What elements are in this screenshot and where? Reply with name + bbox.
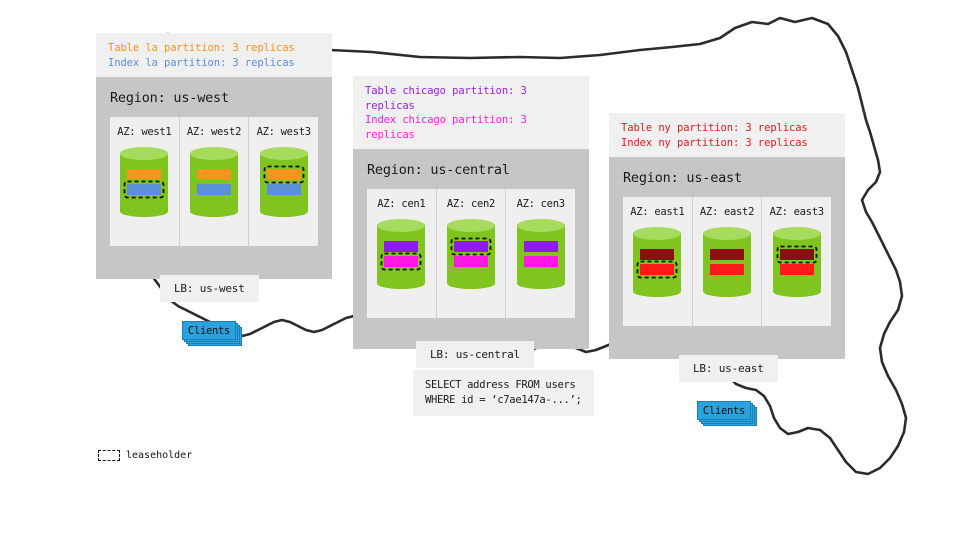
node-cylinder-cen3[interactable] [517,219,565,304]
clients-us-west[interactable]: Clients [182,321,242,345]
az-label-cen3: AZ: cen3 [517,198,565,210]
node-cylinder-west2[interactable] [190,147,238,232]
index-replica-bar [454,256,488,267]
node-cylinder-east1[interactable] [633,227,681,312]
table-replica-bar [384,241,418,252]
az-cell-cen1[interactable]: AZ: cen1 [367,189,436,318]
region-us-west-header: Table la partition: 3 replicas Index la … [96,33,332,77]
node-cylinder-west3[interactable] [260,147,308,232]
region-us-west-body: Region: us-west AZ: west1 AZ: west2 AZ: … [96,77,332,279]
index-partition-label: Index chicago partition: 3 replicas [365,113,577,142]
az-strip-central: AZ: cen1 AZ: cen2 AZ: cen3 [367,189,575,318]
cylinder-shape [447,219,495,300]
table-replica-bar [710,249,744,260]
az-cell-east3[interactable]: AZ: east3 [761,197,831,326]
table-partition-label: Table chicago partition: 3 replicas [365,84,577,113]
table-replica-bar [780,249,814,260]
table-replica-bar [524,241,558,252]
load-balancer-us-east[interactable]: LB: us-east [679,355,778,382]
az-label-west3: AZ: west3 [257,126,311,138]
az-label-east3: AZ: east3 [770,206,824,218]
region-us-east-title: Region: us-east [609,157,845,197]
cylinder-shape [633,227,681,308]
table-replica-bar [197,169,231,180]
load-balancer-us-west[interactable]: LB: us-west [160,275,259,302]
region-us-east-body: Region: us-east AZ: east1 AZ: east2 AZ: … [609,157,845,359]
clients-card-label[interactable]: Clients [182,321,236,340]
index-partition-label: Index ny partition: 3 replicas [621,136,833,151]
az-label-cen2: AZ: cen2 [447,198,495,210]
az-cell-west1[interactable]: AZ: west1 [110,117,179,246]
az-strip-east: AZ: east1 AZ: east2 AZ: east3 [623,197,831,326]
cylinder-shape [377,219,425,300]
index-replica-bar [710,264,744,275]
node-cylinder-cen1[interactable] [377,219,425,304]
index-replica-bar [780,264,814,275]
node-cylinder-west1[interactable] [120,147,168,232]
index-replica-bar [267,184,301,195]
clients-card-label[interactable]: Clients [697,401,751,420]
legend-label: leaseholder [126,450,192,461]
az-cell-cen3[interactable]: AZ: cen3 [505,189,575,318]
az-label-east1: AZ: east1 [630,206,684,218]
az-cell-east1[interactable]: AZ: east1 [623,197,692,326]
az-cell-west2[interactable]: AZ: west2 [179,117,249,246]
region-us-west: Table la partition: 3 replicas Index la … [96,33,332,279]
cylinder-shape [190,147,238,228]
node-cylinder-east2[interactable] [703,227,751,312]
cylinder-shape [703,227,751,308]
dashed-rect-icon [98,450,120,461]
sql-query-box: SELECT address FROM users WHERE id = ‘c7… [413,370,594,416]
index-replica-bar [524,256,558,267]
az-label-west1: AZ: west1 [117,126,171,138]
az-label-west2: AZ: west2 [187,126,241,138]
az-cell-cen2[interactable]: AZ: cen2 [436,189,506,318]
region-us-east-header: Table ny partition: 3 replicas Index ny … [609,113,845,157]
region-us-central-body: Region: us-central AZ: cen1 AZ: cen2 AZ:… [353,149,589,349]
index-partition-label: Index la partition: 3 replicas [108,56,320,71]
az-label-cen1: AZ: cen1 [377,198,425,210]
az-cell-east2[interactable]: AZ: east2 [692,197,762,326]
region-us-east: Table ny partition: 3 replicas Index ny … [609,113,845,359]
cylinder-shape [120,147,168,228]
index-replica-bar [384,256,418,267]
table-replica-bar [640,249,674,260]
cylinder-shape [773,227,821,308]
load-balancer-us-central[interactable]: LB: us-central [416,341,534,368]
table-partition-label: Table la partition: 3 replicas [108,41,320,56]
az-strip-west: AZ: west1 AZ: west2 AZ: west3 [110,117,318,246]
table-partition-label: Table ny partition: 3 replicas [621,121,833,136]
region-us-central-title: Region: us-central [353,149,589,189]
region-us-west-title: Region: us-west [96,77,332,117]
cylinder-shape [517,219,565,300]
table-replica-bar [127,169,161,180]
cylinder-shape [260,147,308,228]
legend: leaseholder [98,450,192,461]
node-cylinder-east3[interactable] [773,227,821,312]
table-replica-bar [267,169,301,180]
region-us-central: Table chicago partition: 3 replicas Inde… [353,76,589,349]
index-replica-bar [640,264,674,275]
index-replica-bar [197,184,231,195]
az-label-east2: AZ: east2 [700,206,754,218]
index-replica-bar [127,184,161,195]
az-cell-west3[interactable]: AZ: west3 [248,117,318,246]
region-us-central-header: Table chicago partition: 3 replicas Inde… [353,76,589,149]
node-cylinder-cen2[interactable] [447,219,495,304]
table-replica-bar [454,241,488,252]
clients-us-east[interactable]: Clients [697,401,757,425]
